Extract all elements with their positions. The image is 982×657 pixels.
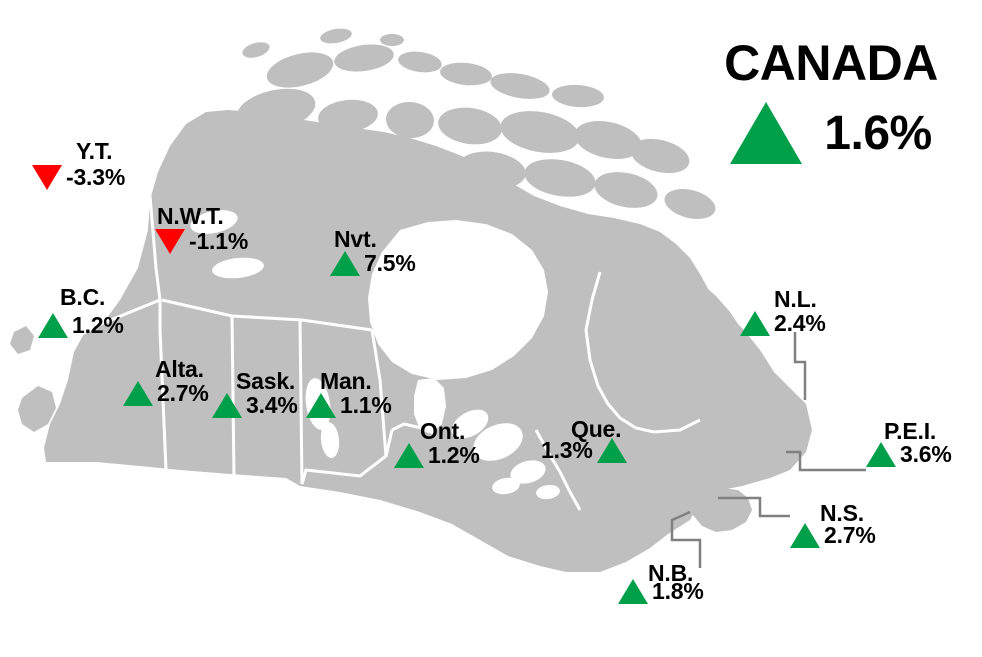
infographic-canvas: CANADA 1.6% Y.T. -3.3% N.W.T. -1.1% Nvt.… bbox=[0, 0, 982, 657]
region-value-row-bc: 1.2% bbox=[38, 313, 124, 338]
region-label-ab: Alta. bbox=[155, 358, 209, 381]
triangle-down-icon bbox=[32, 165, 62, 190]
national-summary: CANADA 1.6% bbox=[700, 38, 962, 164]
triangle-up-icon bbox=[866, 442, 896, 467]
region-label-mb: Man. bbox=[320, 370, 392, 393]
region-value-row-pe: 3.6% bbox=[866, 442, 952, 467]
region-value-nwt: -1.1% bbox=[189, 230, 248, 253]
region-marker-nwt[interactable]: N.W.T. -1.1% bbox=[155, 205, 248, 254]
region-value-row-qc: 1.3% bbox=[541, 438, 627, 463]
region-label-on: Ont. bbox=[420, 420, 480, 443]
region-value-row-sk: 3.4% bbox=[212, 393, 298, 418]
region-value-qc: 1.3% bbox=[541, 439, 593, 462]
region-marker-sk[interactable]: Sask. 3.4% bbox=[212, 370, 298, 418]
region-marker-mb[interactable]: Man. 1.1% bbox=[306, 370, 392, 418]
region-value-nvt: 7.5% bbox=[364, 252, 416, 275]
triangle-up-icon bbox=[730, 102, 802, 164]
region-value-mb: 1.1% bbox=[340, 394, 392, 417]
triangle-up-icon bbox=[394, 443, 424, 468]
region-value-row-nb: 1.8% bbox=[618, 579, 704, 604]
landmass-group bbox=[10, 26, 812, 572]
region-label-bc: B.C. bbox=[60, 286, 124, 309]
region-marker-ns[interactable]: N.S. 2.7% bbox=[790, 502, 876, 548]
region-value-row-nl: 2.4% bbox=[740, 311, 826, 336]
region-value-nl: 2.4% bbox=[774, 312, 826, 335]
triangle-up-icon bbox=[740, 311, 770, 336]
region-value-pe: 3.6% bbox=[900, 443, 952, 466]
region-label-pe: P.E.I. bbox=[884, 420, 952, 443]
region-value-sk: 3.4% bbox=[246, 394, 298, 417]
region-marker-ab[interactable]: Alta. 2.7% bbox=[123, 358, 209, 406]
region-label-nwt: N.W.T. bbox=[157, 205, 248, 228]
region-value-row-on: 1.2% bbox=[394, 443, 480, 468]
triangle-up-icon bbox=[597, 438, 627, 463]
region-value-on: 1.2% bbox=[428, 444, 480, 467]
leader-line-nl bbox=[795, 332, 805, 400]
triangle-up-icon bbox=[38, 313, 68, 338]
region-label-nl: N.L. bbox=[774, 288, 826, 311]
national-value-row: 1.6% bbox=[700, 102, 962, 164]
region-value-row-yt: -3.3% bbox=[32, 165, 125, 190]
region-value-row-ns: 2.7% bbox=[790, 523, 876, 548]
region-marker-nvt[interactable]: Nvt. 7.5% bbox=[330, 228, 416, 276]
region-marker-on[interactable]: Ont. 1.2% bbox=[394, 420, 480, 468]
region-value-row-nwt: -1.1% bbox=[155, 229, 248, 254]
triangle-down-icon bbox=[155, 229, 185, 254]
region-value-row-ab: 2.7% bbox=[123, 381, 209, 406]
region-value-yt: -3.3% bbox=[66, 166, 125, 189]
region-value-ns: 2.7% bbox=[824, 524, 876, 547]
triangle-up-icon bbox=[123, 381, 153, 406]
haida-gwaii-island bbox=[10, 326, 34, 354]
national-value: 1.6% bbox=[824, 106, 931, 161]
region-marker-yt[interactable]: Y.T. -3.3% bbox=[32, 140, 125, 190]
region-value-row-mb: 1.1% bbox=[306, 393, 392, 418]
region-marker-bc[interactable]: B.C. 1.2% bbox=[38, 286, 124, 338]
region-marker-qc[interactable]: Que. 1.3% bbox=[541, 418, 627, 463]
region-value-row-nvt: 7.5% bbox=[330, 251, 416, 276]
triangle-up-icon bbox=[330, 251, 360, 276]
triangle-up-icon bbox=[306, 393, 336, 418]
region-value-bc: 1.2% bbox=[72, 314, 124, 337]
region-label-sk: Sask. bbox=[236, 370, 298, 393]
triangle-up-icon bbox=[212, 393, 242, 418]
region-value-nb: 1.8% bbox=[652, 580, 704, 603]
region-value-ab: 2.7% bbox=[157, 382, 209, 405]
triangle-up-icon bbox=[790, 523, 820, 548]
triangle-up-icon bbox=[618, 579, 648, 604]
region-label-yt: Y.T. bbox=[76, 140, 125, 163]
region-marker-nl[interactable]: N.L. 2.4% bbox=[740, 288, 826, 336]
region-label-nvt: Nvt. bbox=[334, 228, 416, 251]
region-marker-pe[interactable]: P.E.I. 3.6% bbox=[866, 420, 952, 467]
page-title: CANADA bbox=[700, 38, 962, 88]
region-marker-nb[interactable]: N.B. 1.8% bbox=[618, 562, 704, 604]
